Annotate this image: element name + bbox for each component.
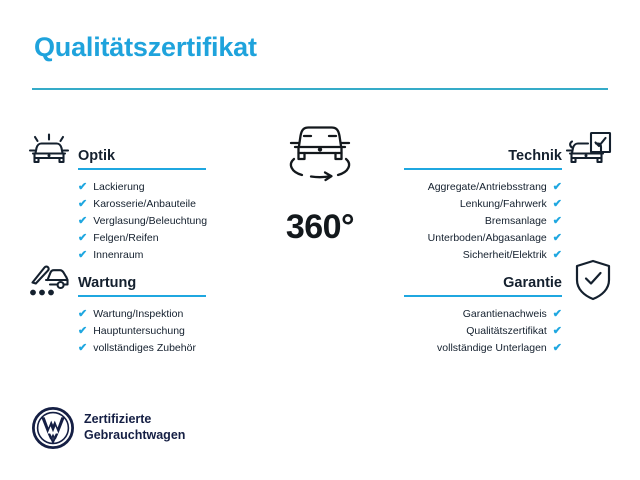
section-garantie-header: Garantie [404,267,562,297]
list-item: ✔Lackierung [78,179,206,196]
list-item-label: Wartung/Inspektion [93,306,183,323]
car-checkbox-icon [566,131,612,171]
list-item-label: Aggregate/Antriebsstrang [428,179,547,196]
badge-center-label: 360° [232,208,408,247]
check-icon: ✔ [553,233,562,244]
section-wartung-divider [78,295,206,297]
vw-logo-icon [32,407,74,449]
check-icon: ✔ [78,233,87,244]
section-wartung-title: Wartung [78,275,136,291]
list-item: Aggregate/Antriebsstrang✔ [404,179,562,196]
list-item-label: Unterboden/Abgasanlage [428,230,547,247]
check-icon: ✔ [553,199,562,210]
list-item-label: Karosserie/Anbauteile [93,196,196,213]
list-item-label: Lenkung/Fahrwerk [460,196,547,213]
section-garantie: Garantie Garantienachweis✔ Qualitätszert… [404,267,562,357]
page-title: Qualitätszertifikat [34,32,257,63]
check-icon: ✔ [553,309,562,320]
list-item: ✔Verglasung/Beleuchtung [78,213,206,230]
list-item: ✔Wartung/Inspektion [78,306,206,323]
footer-line-1: Zertifizierte [84,411,185,427]
list-item-label: vollständiges Zubehör [93,340,196,357]
section-optik: Optik ✔Lackierung ✔Karosserie/Anbauteile… [78,140,206,264]
list-item-label: vollständige Unterlagen [437,340,547,357]
list-item-label: Innenraum [93,247,143,264]
list-item-label: Verglasung/Beleuchtung [93,213,207,230]
list-item-label: Hauptuntersuchung [93,323,185,340]
section-garantie-title: Garantie [503,275,562,291]
shield-check-icon [573,258,613,302]
section-wartung: Wartung ✔Wartung/Inspektion ✔Hauptunters… [78,267,206,357]
check-icon: ✔ [78,309,87,320]
section-optik-list: ✔Lackierung ✔Karosserie/Anbauteile ✔Verg… [78,179,206,264]
section-technik-divider [404,168,562,170]
section-garantie-divider [404,295,562,297]
section-technik-title: Technik [508,148,562,164]
section-garantie-list: Garantienachweis✔ Qualitätszertifikat✔ v… [404,306,562,357]
check-icon: ✔ [78,326,87,337]
car-rotate-360-icon [275,119,365,183]
check-icon: ✔ [78,199,87,210]
list-item: ✔Felgen/Reifen [78,230,206,247]
car-shine-icon [26,131,72,171]
check-icon: ✔ [553,326,562,337]
section-optik-header: Optik [78,140,206,170]
list-item: ✔Innenraum [78,247,206,264]
section-technik-header: Technik [404,140,562,170]
certificate-page: Qualitätszertifikat Optik [0,0,640,480]
section-optik-title: Optik [78,148,115,164]
title-divider [32,88,608,90]
car-wrench-icon [26,259,72,299]
check-icon: ✔ [553,250,562,261]
section-technik: Technik Aggregate/Antriebsstrang✔ Lenkun… [404,140,562,264]
check-icon: ✔ [78,343,87,354]
section-wartung-header: Wartung [78,267,206,297]
footer-brand-text: Zertifizierte Gebrauchtwagen [84,411,185,443]
list-item: ✔Karosserie/Anbauteile [78,196,206,213]
list-item: ✔vollständiges Zubehör [78,340,206,357]
check-icon: ✔ [78,216,87,227]
list-item: Qualitätszertifikat✔ [404,323,562,340]
footer-line-2: Gebrauchtwagen [84,427,185,443]
svg-text:Gebrauchtwagen-Check: Gebrauchtwagen-Check [246,241,394,313]
check-icon: ✔ [78,182,87,193]
badge-ring-label: Gebrauchtwagen-Check [246,241,394,313]
list-item-label: Sicherheit/Elektrik [463,247,547,264]
list-item: vollständige Unterlagen✔ [404,340,562,357]
check-icon: ✔ [78,250,87,261]
check-icon: ✔ [553,216,562,227]
check-icon: ✔ [553,182,562,193]
list-item-label: Bremsanlage [485,213,547,230]
list-item: Sicherheit/Elektrik✔ [404,247,562,264]
list-item: Garantienachweis✔ [404,306,562,323]
list-item-label: Qualitätszertifikat [466,323,547,340]
list-item: Bremsanlage✔ [404,213,562,230]
list-item-label: Lackierung [93,179,144,196]
section-technik-list: Aggregate/Antriebsstrang✔ Lenkung/Fahrwe… [404,179,562,264]
list-item: ✔Hauptuntersuchung [78,323,206,340]
list-item-label: Garantienachweis [463,306,547,323]
list-item-label: Felgen/Reifen [93,230,158,247]
section-wartung-list: ✔Wartung/Inspektion ✔Hauptuntersuchung ✔… [78,306,206,357]
section-optik-divider [78,168,206,170]
check-icon: ✔ [553,343,562,354]
list-item: Unterboden/Abgasanlage✔ [404,230,562,247]
list-item: Lenkung/Fahrwerk✔ [404,196,562,213]
